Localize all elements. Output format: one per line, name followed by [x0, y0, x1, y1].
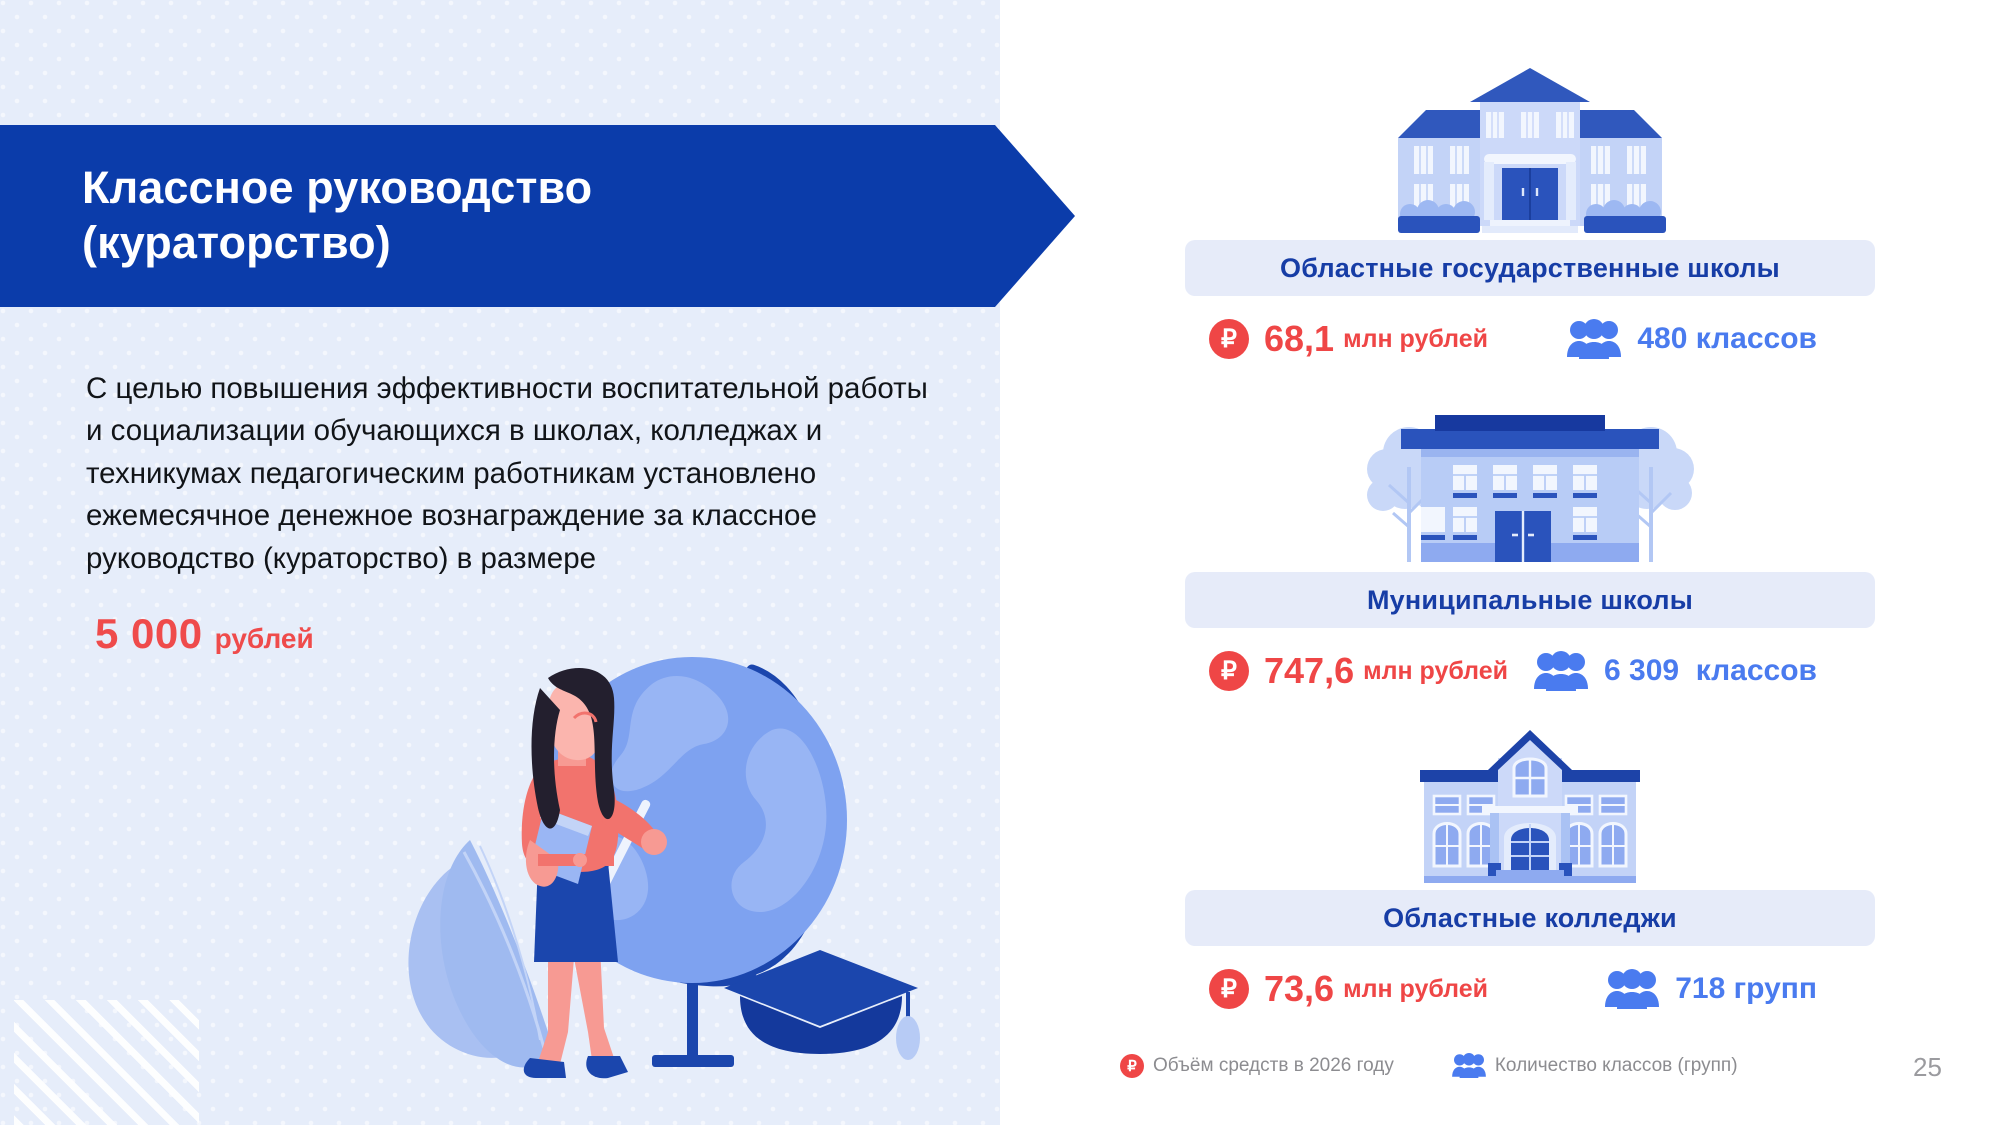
count-stat: 6 309 классов [1534, 651, 1817, 691]
card-title-pill: Муниципальные школы [1185, 572, 1875, 628]
money-value: 747,6 [1264, 650, 1354, 692]
count-text: 480 классов [1637, 322, 1817, 356]
footer-legend: ₽ Объём средств в 2026 году Количество к… [1120, 1053, 1738, 1078]
people-group-icon [1452, 1053, 1486, 1078]
monthly-amount: 5 000 рублей [95, 610, 314, 658]
money-stat: ₽ 68,1 млн рублей [1209, 318, 1488, 360]
count-stat: 480 классов [1567, 319, 1817, 359]
teacher-with-globe-illustration [352, 640, 982, 1090]
legend-item-count: Количество классов (групп) [1452, 1053, 1738, 1078]
count-text: 718 групп [1675, 972, 1817, 1006]
card-title: Областные государственные школы [1280, 253, 1780, 284]
card-regional-colleges: Областные колледжи ₽ 73,6 млн рублей 718… [1185, 690, 1875, 1018]
money-stat: ₽ 747,6 млн рублей [1209, 650, 1508, 692]
ruble-icon: ₽ [1209, 969, 1249, 1009]
count-text: 6 309 классов [1604, 654, 1817, 688]
people-group-icon [1534, 651, 1588, 691]
legend-money-label: Объём средств в 2026 году [1153, 1055, 1394, 1077]
card-title-pill: Областные колледжи [1185, 890, 1875, 946]
card-stats-row: ₽ 73,6 млн рублей 718 групп [1185, 960, 1875, 1018]
college-building-illustration [1185, 690, 1875, 890]
ruble-icon: ₽ [1209, 319, 1249, 359]
page-title: Классное руководство (кураторство) [82, 161, 592, 271]
ruble-icon: ₽ [1209, 651, 1249, 691]
card-title: Областные колледжи [1383, 903, 1677, 934]
page-number: 25 [1913, 1052, 1942, 1083]
count-stat: 718 групп [1605, 969, 1817, 1009]
municipal-school-with-trees-illustration [1185, 372, 1875, 572]
card-title-pill: Областные государственные школы [1185, 240, 1875, 296]
people-group-icon [1567, 319, 1621, 359]
monthly-amount-unit: рублей [215, 623, 314, 655]
card-title: Муниципальные школы [1367, 585, 1693, 616]
legend-count-label: Количество классов (групп) [1495, 1055, 1738, 1077]
title-banner: Классное руководство (кураторство) [0, 125, 1075, 307]
ruble-icon: ₽ [1120, 1054, 1144, 1078]
page-title-line-1: Классное руководство [82, 161, 592, 216]
money-value: 68,1 [1264, 318, 1334, 360]
card-stats-row: ₽ 68,1 млн рублей 480 классов [1185, 310, 1875, 368]
card-regional-state-schools: Областные государственные школы ₽ 68,1 м… [1185, 40, 1875, 368]
diagonal-hatch-decoration [14, 1000, 199, 1125]
legend-item-money: ₽ Объём средств в 2026 году [1120, 1054, 1394, 1078]
monthly-amount-value: 5 000 [95, 610, 203, 658]
money-unit: млн рублей [1343, 325, 1488, 354]
card-municipal-schools: Муниципальные школы ₽ 747,6 млн рублей 6… [1185, 372, 1875, 700]
page-title-line-2: (кураторство) [82, 216, 592, 271]
money-stat: ₽ 73,6 млн рублей [1209, 968, 1488, 1010]
intro-paragraph: С целью повышения эффективности воспитат… [86, 368, 946, 580]
money-value: 73,6 [1264, 968, 1334, 1010]
slide-root: Классное руководство (кураторство) С цел… [0, 0, 2000, 1125]
people-group-icon [1605, 969, 1659, 1009]
school-building-columned-illustration [1185, 40, 1875, 240]
money-unit: млн рублей [1363, 657, 1508, 686]
money-unit: млн рублей [1343, 975, 1488, 1004]
